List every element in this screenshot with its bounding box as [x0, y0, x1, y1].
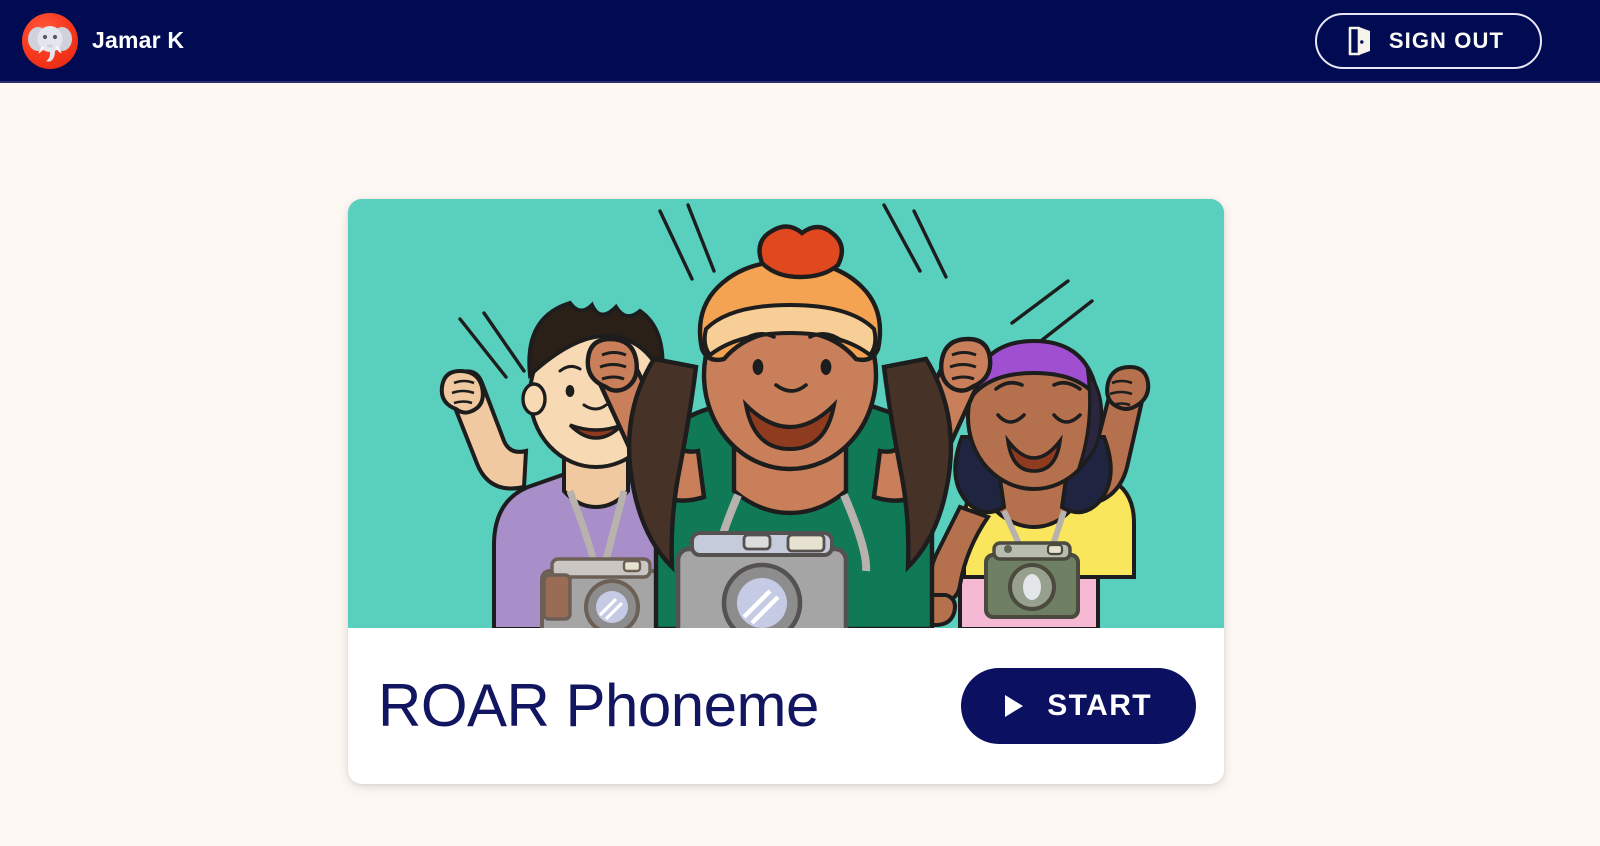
play-icon	[1003, 694, 1025, 718]
task-card-footer: ROAR Phoneme START	[348, 628, 1224, 784]
start-button[interactable]: START	[961, 668, 1196, 744]
main-content: ROAR Phoneme START	[0, 83, 1600, 846]
task-illustration	[348, 199, 1224, 628]
door-exit-icon	[1347, 26, 1373, 56]
task-card[interactable]: ROAR Phoneme START	[348, 199, 1224, 784]
sign-out-label: SIGN OUT	[1389, 28, 1504, 54]
user-block: Jamar K	[0, 13, 184, 69]
sign-out-button[interactable]: SIGN OUT	[1315, 13, 1542, 69]
app-header: Jamar K SIGN OUT	[0, 0, 1600, 83]
start-button-label: START	[1047, 689, 1152, 723]
elephant-avatar-icon	[22, 13, 78, 69]
task-title: ROAR Phoneme	[378, 676, 819, 736]
user-name-label: Jamar K	[92, 27, 184, 54]
